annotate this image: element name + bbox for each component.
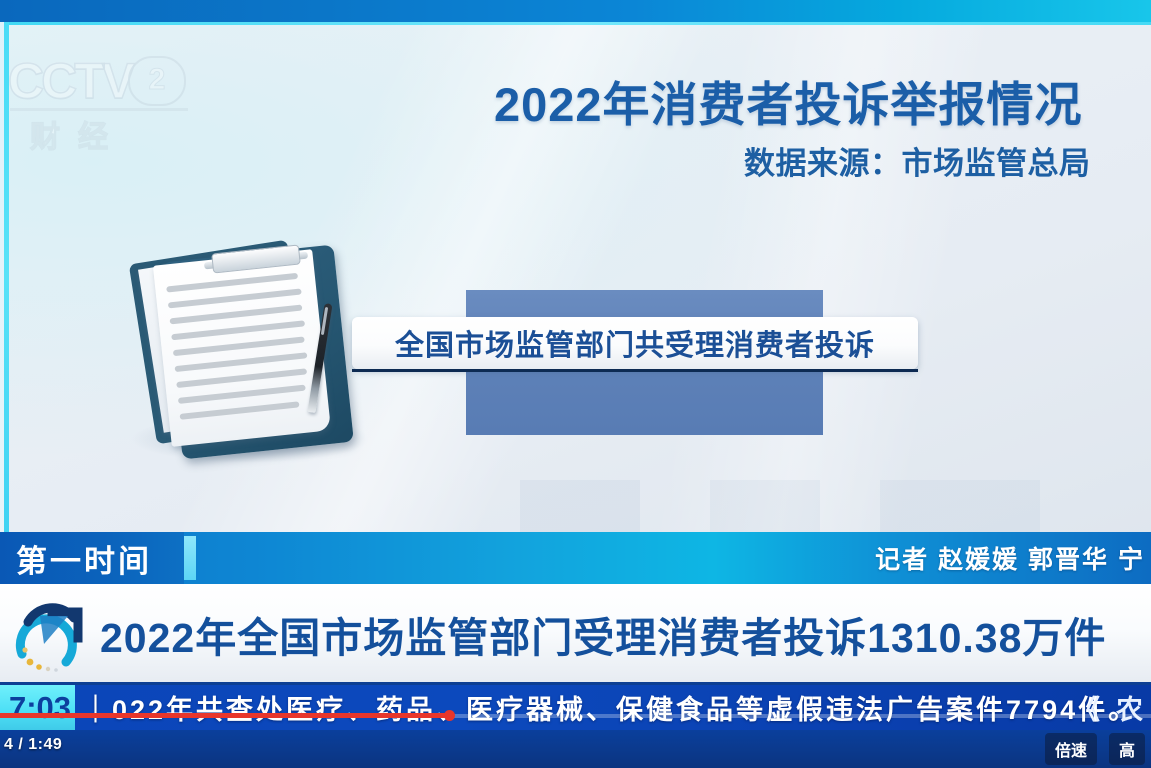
video-progress-handle[interactable] (444, 710, 455, 721)
callout-underline (352, 369, 918, 372)
on-screen-clock: 7:03 (0, 685, 75, 730)
paper-line (166, 273, 298, 293)
video-progress-fill[interactable] (0, 713, 449, 718)
broadcast-video-frame[interactable]: CCTV 2 财经 2022年消费者投诉举报情况 数据来源：市场监管总局 (0, 0, 1151, 768)
watermark-rule (10, 108, 188, 111)
player-controls-right: 倍速 高 (1045, 733, 1145, 765)
program-tag-edge (184, 536, 196, 580)
reporter-credits: 记者 赵媛媛 郭晋华 宁 (875, 532, 1151, 584)
callout-banner: 全国市场监管部门共受理消费者投诉 (352, 317, 918, 369)
program-name-tag: 第一时间 (0, 532, 184, 584)
paper-line (178, 385, 306, 404)
paper-line (168, 288, 302, 308)
video-player-screen: CCTV 2 财经 2022年消费者投诉举报情况 数据来源：市场监管总局 (0, 0, 1151, 768)
paper-line (175, 352, 308, 372)
paper-line (173, 336, 305, 356)
graphic-title: 2022年消费者投诉举报情况 (494, 66, 1151, 135)
program-name-label: 第一时间 (16, 536, 152, 581)
background-texture-blocks (520, 480, 1151, 540)
ticker-next-label: 农 (1116, 688, 1143, 727)
video-quality-button[interactable]: 高 (1109, 733, 1145, 765)
program-logo-icon (8, 592, 94, 678)
watermark-cctv-text: CCTV (8, 52, 132, 110)
reporter-credits-label: 记者 赵媛媛 郭晋华 宁 (875, 540, 1145, 576)
top-blue-strip (0, 0, 1151, 22)
headline-text: 2022年全国市场监管部门受理消费者投诉1310.38万件 (100, 594, 1106, 674)
watermark-channel-number: 2 (128, 56, 186, 106)
video-time-display: 4 / 1:49 (4, 736, 62, 754)
paper-line (171, 320, 305, 340)
cctv2-watermark-logo: CCTV 2 财经 (8, 52, 198, 152)
clipboard-icon (120, 245, 380, 465)
paper-line (170, 305, 303, 325)
on-screen-clock-label: 7:03 (9, 690, 75, 726)
watermark-subtitle: 财经 (30, 112, 126, 156)
paper-line (176, 368, 307, 388)
callout-text: 全国市场监管部门共受理消费者投诉 (395, 322, 875, 364)
graphic-data-source: 数据来源：市场监管总局 (744, 138, 1151, 183)
news-ticker-next-item: 《 农 (1073, 685, 1143, 730)
ticker-bottom-band (0, 730, 1151, 768)
top-strip-glow (0, 22, 1151, 25)
ticker-bracket-icon: 《 (1073, 688, 1100, 727)
clipboard-paper (153, 249, 331, 447)
news-ticker-text: ｜022年共查处医疗、药品、医疗器械、保健食品等虚假违法广告案件7794件。 (82, 685, 1138, 730)
paper-line (180, 401, 300, 420)
playback-speed-button[interactable]: 倍速 (1045, 733, 1097, 765)
